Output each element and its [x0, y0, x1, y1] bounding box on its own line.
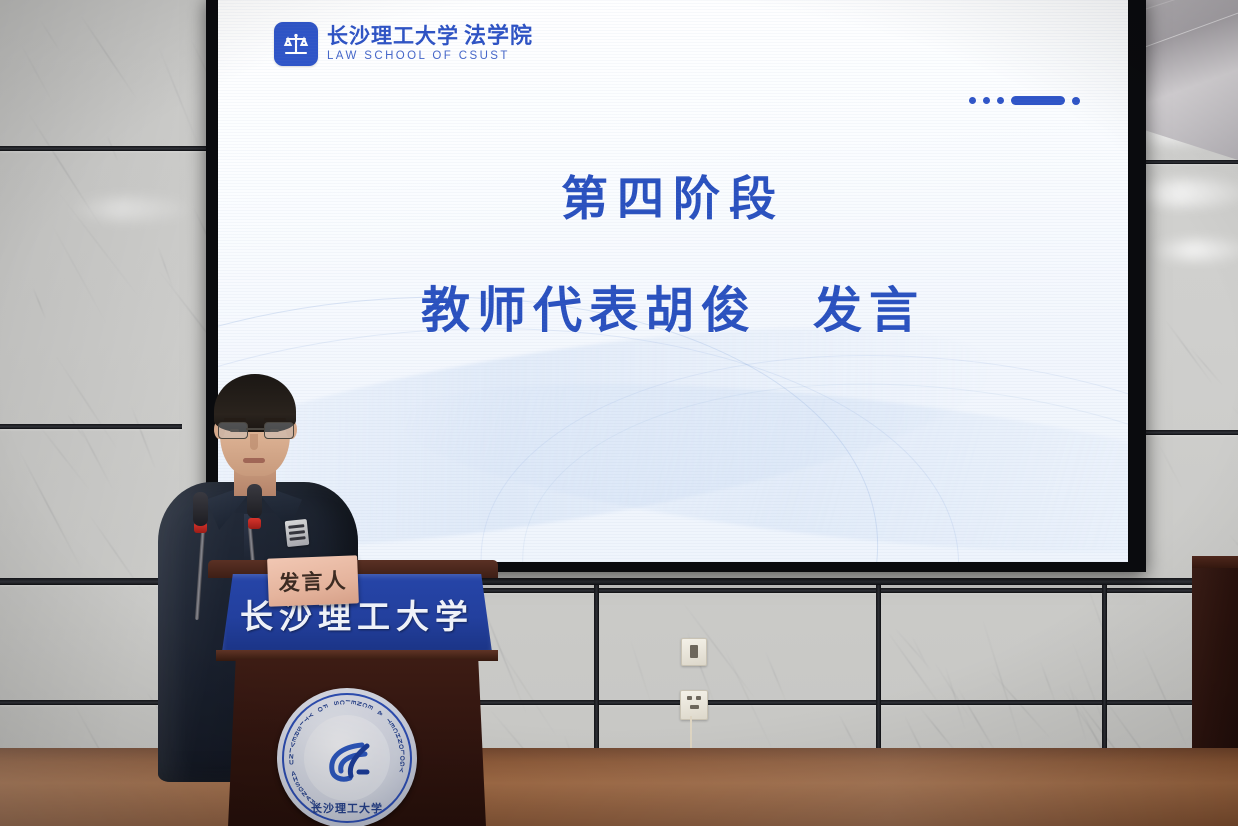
slide-title-line2: 教师代表胡俊 发言 [218, 271, 1128, 342]
speaker-placard: 发言人 [267, 555, 359, 606]
wall-grout-line [876, 585, 881, 757]
deco-dot-icon [983, 97, 990, 104]
deco-dot-icon [969, 97, 976, 104]
light-switch-plate[interactable] [681, 638, 707, 666]
wall-grout-line [470, 588, 1238, 593]
deco-dot-icon [1072, 97, 1080, 105]
slide-logo-text: 长沙理工大学法学院 LAW SCHOOL OF CSUST [327, 25, 533, 63]
slide-title-line1: 第四阶段 [218, 160, 1128, 229]
slide-logo-chinese: 长沙理工大学法学院 [327, 25, 533, 47]
mouth [243, 458, 265, 463]
nose [250, 434, 258, 450]
speaker-placard-text: 发言人 [278, 565, 348, 598]
slide-logo-english: LAW SCHOOL OF CSUST [327, 51, 533, 63]
eyebrow-left [224, 418, 246, 421]
dots-and-bar-decoration [969, 96, 1080, 105]
slide-content: 第四阶段 教师代表胡俊 发言 [218, 160, 1128, 342]
law-scales-icon [274, 22, 318, 66]
wall-reflection [70, 198, 190, 220]
side-furniture [1192, 562, 1238, 758]
deco-dot-icon [997, 97, 1004, 104]
wall-grout-line [1102, 585, 1107, 753]
university-emblem: CHANGSHA UNIVERSITY OF SCIENCE & TECHNOL… [277, 688, 417, 826]
wall-grout-line [594, 585, 599, 755]
side-furniture-top [1192, 556, 1238, 568]
emblem-chinese-text: 长沙理工大学 [277, 800, 417, 816]
wall-grout-line [0, 146, 212, 151]
slide-logo: 长沙理工大学法学院 LAW SCHOOL OF CSUST [274, 22, 533, 66]
wall-reflection [1130, 180, 1238, 206]
eyebrow-right [264, 418, 286, 421]
deco-bar-icon [1011, 96, 1065, 105]
conference-room-photo: 长沙理工大学法学院 LAW SCHOOL OF CSUST 第四阶段 教师代表胡… [0, 0, 1238, 826]
